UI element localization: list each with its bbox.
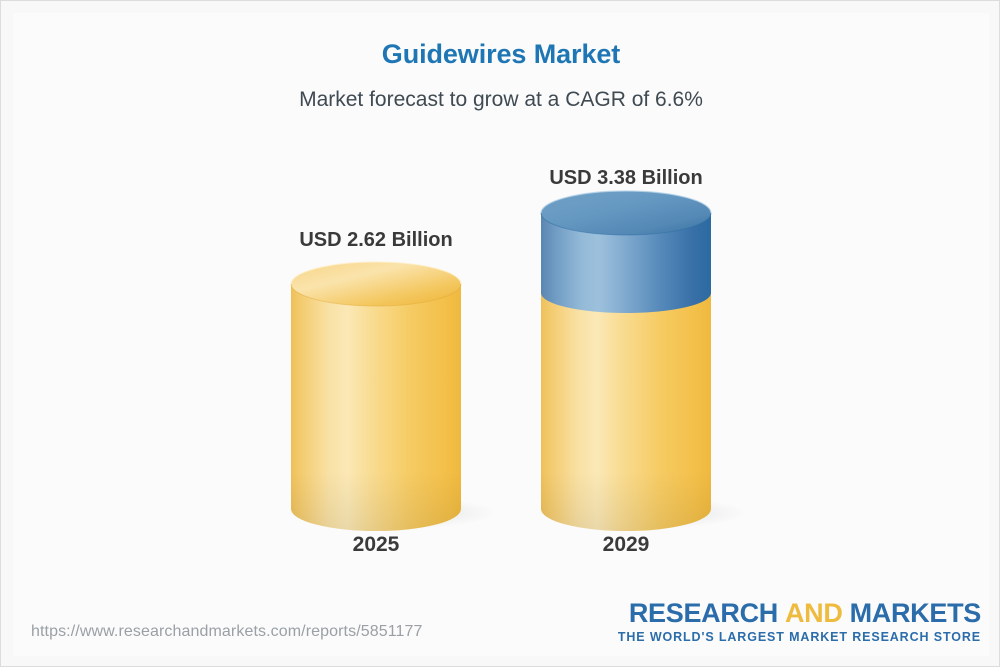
report-url-link[interactable]: https://www.researchandmarkets.com/repor… (31, 623, 423, 641)
logo-tagline: THE WORLD'S LARGEST MARKET RESEARCH STOR… (618, 630, 981, 644)
logo-word-markets: MARKETS (850, 598, 981, 628)
bar-2025-bottom-shade (291, 471, 461, 531)
bar-2025[interactable] (289, 262, 497, 531)
bar-2029-value-label: USD 3.38 Billion (496, 167, 756, 190)
bar-2029-category-label: 2029 (496, 533, 756, 557)
bar-2029[interactable] (539, 191, 747, 531)
logo-word-research: RESEARCH (629, 598, 778, 628)
cylinder-bar-chart (1, 1, 1000, 667)
logo-wordmark: RESEARCHANDMARKETS (618, 599, 981, 627)
logo-word-and: AND (785, 598, 843, 628)
bar-2029-bottom-shade (541, 471, 711, 531)
bar-2025-value-label: USD 2.62 Billion (246, 229, 506, 252)
chart-canvas: Guidewires Market Market forecast to gro… (0, 0, 1000, 667)
bar-2025-category-label: 2025 (246, 533, 506, 557)
research-and-markets-logo[interactable]: RESEARCHANDMARKETS THE WORLD'S LARGEST M… (618, 599, 981, 644)
